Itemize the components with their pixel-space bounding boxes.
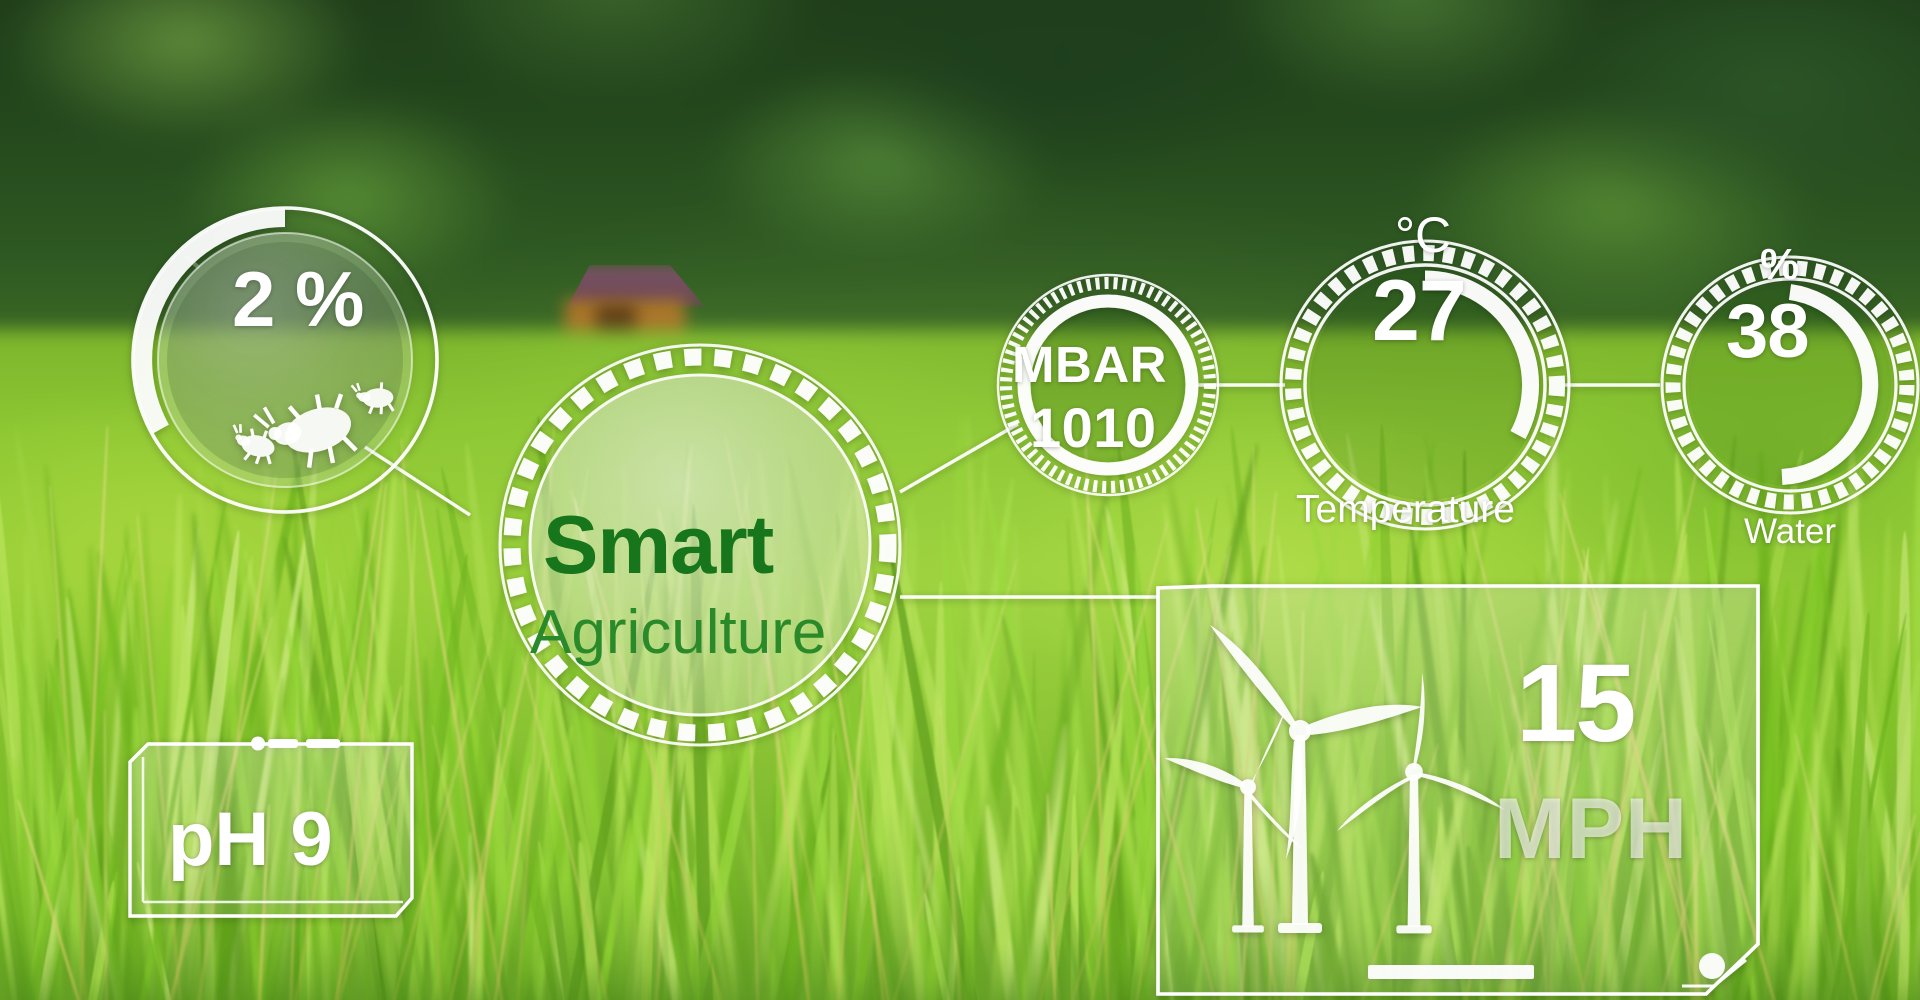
core-subtitle: Agriculture	[530, 597, 826, 668]
core-title: Smart	[543, 497, 773, 593]
wind-value: 15	[1516, 640, 1634, 767]
temperature-value: 27	[1372, 262, 1466, 361]
wind-panel-dot	[1699, 953, 1725, 979]
pest-value: 2 %	[232, 254, 363, 345]
water-label: Water	[1744, 512, 1836, 552]
hud-overlay: 2 % MBAR 1010 °C 27 Temperature % 38 Wat…	[0, 0, 1920, 1000]
pressure-value: 1010	[1030, 395, 1157, 460]
temperature-unit: °C	[1395, 206, 1451, 264]
smart-agriculture-dashboard: 2 % MBAR 1010 °C 27 Temperature % 38 Wat…	[0, 0, 1920, 1000]
water-value: 38	[1726, 288, 1809, 375]
temperature-label: Temperature	[1296, 488, 1515, 532]
water-unit: %	[1760, 240, 1799, 290]
wind-unit: MPH	[1494, 780, 1688, 879]
ph-value: pH 9	[168, 796, 333, 883]
pressure-unit: MBAR	[1012, 335, 1167, 394]
wind-panel-bar	[1368, 965, 1534, 979]
